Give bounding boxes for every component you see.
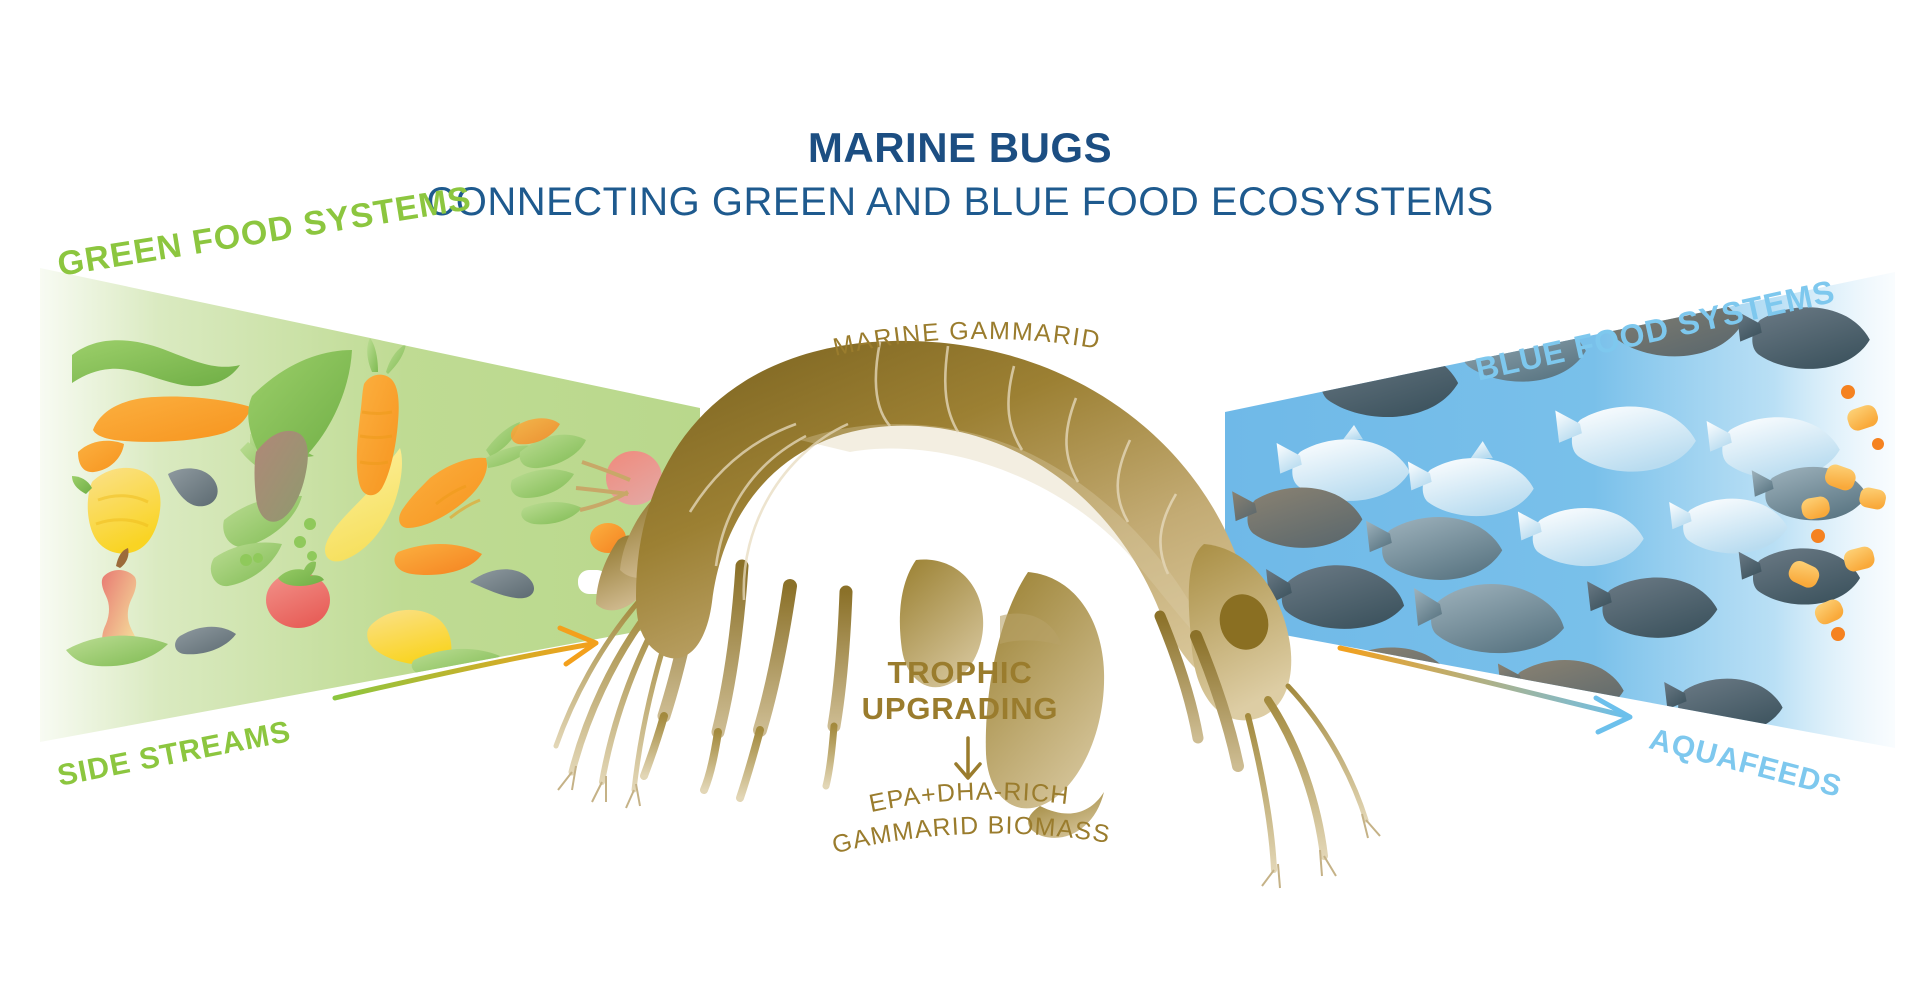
svg-text:GAMMARID BIOMASS: GAMMARID BIOMASS [829, 812, 1112, 860]
trophic-line-2: UPGRADING [0, 691, 1920, 727]
page-title: MARINE BUGS [0, 124, 1920, 172]
trophic-line-1: TROPHIC [0, 655, 1920, 691]
down-arrow-icon [956, 738, 980, 778]
infographic-canvas: MARINE GAMMARID EPA+DHA-RICH GAMMARID BI… [0, 0, 1920, 983]
trophic-upgrading-label: TROPHIC UPGRADING [0, 655, 1920, 728]
gammarid-biomass-label: EPA+DHA-RICH GAMMARID BIOMASS [820, 777, 1124, 859]
